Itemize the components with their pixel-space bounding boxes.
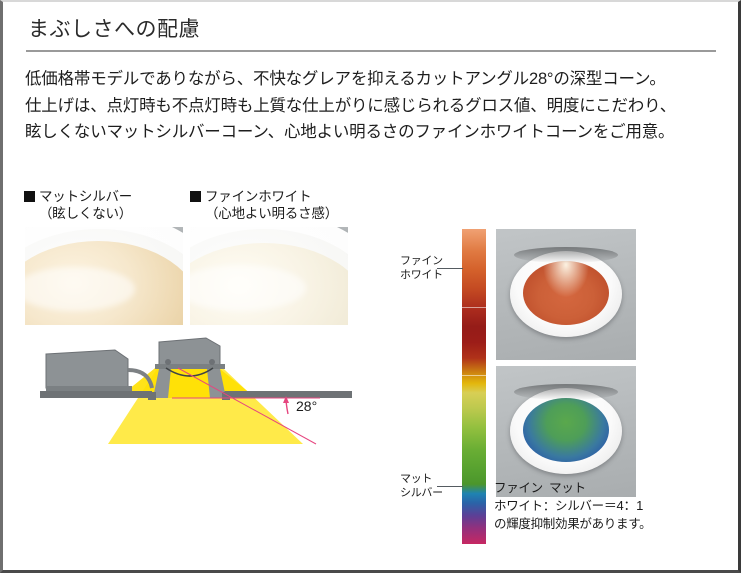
luminance-disc-matt-silver — [523, 398, 609, 462]
caption-fine-white-note: （心地よい明るさ感） — [205, 205, 338, 222]
ring-top-shadow — [514, 247, 618, 263]
ratio-note-line-1: ファイン マット — [494, 479, 729, 497]
ring-top-shadow — [514, 384, 618, 400]
caption-matt-silver-name: マットシルバー — [39, 189, 132, 204]
product-spec-page: まぶしさへの配慮 低価格帯モデルでありながら、不快なグレアを抑えるカットアングル… — [0, 0, 741, 573]
luminance-photo-fine-white — [496, 229, 636, 360]
fixing-screw-left — [165, 359, 171, 365]
scale-label-fine-white-line1: ファイン — [400, 255, 443, 267]
luminance-photo-matt-silver — [496, 366, 636, 497]
ratio-note-line-3: の輝度抑制効果があります。 — [494, 515, 729, 533]
luminance-scale-bar — [462, 229, 486, 544]
bullet-square-icon — [190, 191, 201, 202]
ratio-note-line1-b: マット — [549, 481, 586, 495]
photo-fine-white-downlight — [190, 227, 348, 325]
caption-matt-silver-note: （眩しくない） — [39, 205, 132, 222]
scale-label-fine-white: ファイン ホワイト — [400, 254, 443, 282]
fixing-screw-right — [209, 359, 215, 365]
scale-label-matt-silver-line2: シルバー — [400, 487, 443, 499]
title-divider — [26, 50, 716, 52]
page-title: まぶしさへの配慮 — [28, 17, 200, 43]
caption-fine-white-name: ファインホワイト — [205, 189, 311, 204]
photo-matt-silver-downlight — [25, 227, 183, 325]
caption-fine-white: ファインホワイト （心地よい明るさ感） — [190, 188, 338, 222]
ratio-note-line2-a: ホワイト — [494, 499, 543, 513]
ratio-note-colon: ： — [543, 499, 555, 513]
scale-bar-tick — [462, 375, 486, 376]
driver-box — [46, 350, 128, 388]
flange-clip-left — [148, 392, 156, 400]
scale-label-matt-silver-line1: マット — [400, 473, 432, 485]
ratio-note-line1-a: ファイン — [494, 481, 543, 495]
driver-box-base — [46, 386, 132, 391]
scale-label-matt-silver: マット シルバー — [400, 472, 443, 500]
lead-line-1: 低価格帯モデルでありながら、不快なグレアを抑えるカットアングル28°の深型コーン… — [25, 66, 725, 93]
ratio-note: ファイン マット ホワイト：シルバー＝4：1 の輝度抑制効果があります。 — [494, 479, 729, 533]
cut-angle-label: 28° — [296, 398, 317, 414]
lead-line-2: 仕上げは、点灯時も不点灯時も上質な仕上がりに感じられるグロス値、明度にこだわり、 — [25, 93, 725, 120]
caption-matt-silver: マットシルバー （眩しくない） — [24, 188, 132, 222]
bullet-square-icon — [24, 191, 35, 202]
lead-line-3: 眩しくないマットシルバーコーン、心地よい明るさのファインホワイトコーンをご用意。 — [25, 119, 725, 146]
lead-paragraph: 低価格帯モデルでありながら、不快なグレアを抑えるカットアングル28°の深型コーン… — [25, 66, 725, 146]
ratio-note-line2-b: シルバー — [555, 499, 604, 513]
ratio-note-equation: ＝4：1 — [604, 498, 643, 513]
luminance-disc-fine-white — [523, 261, 609, 325]
scale-label-fine-white-line2: ホワイト — [400, 269, 443, 281]
cutaway-diagram: 28° — [20, 326, 380, 472]
ceiling-plane-left — [40, 391, 152, 398]
fixture-housing-plate — [155, 364, 225, 369]
ratio-note-line-2: ホワイト：シルバー＝4：1 — [494, 497, 729, 515]
scale-bar-tick — [462, 307, 486, 308]
ceiling-plane-right — [222, 391, 352, 398]
